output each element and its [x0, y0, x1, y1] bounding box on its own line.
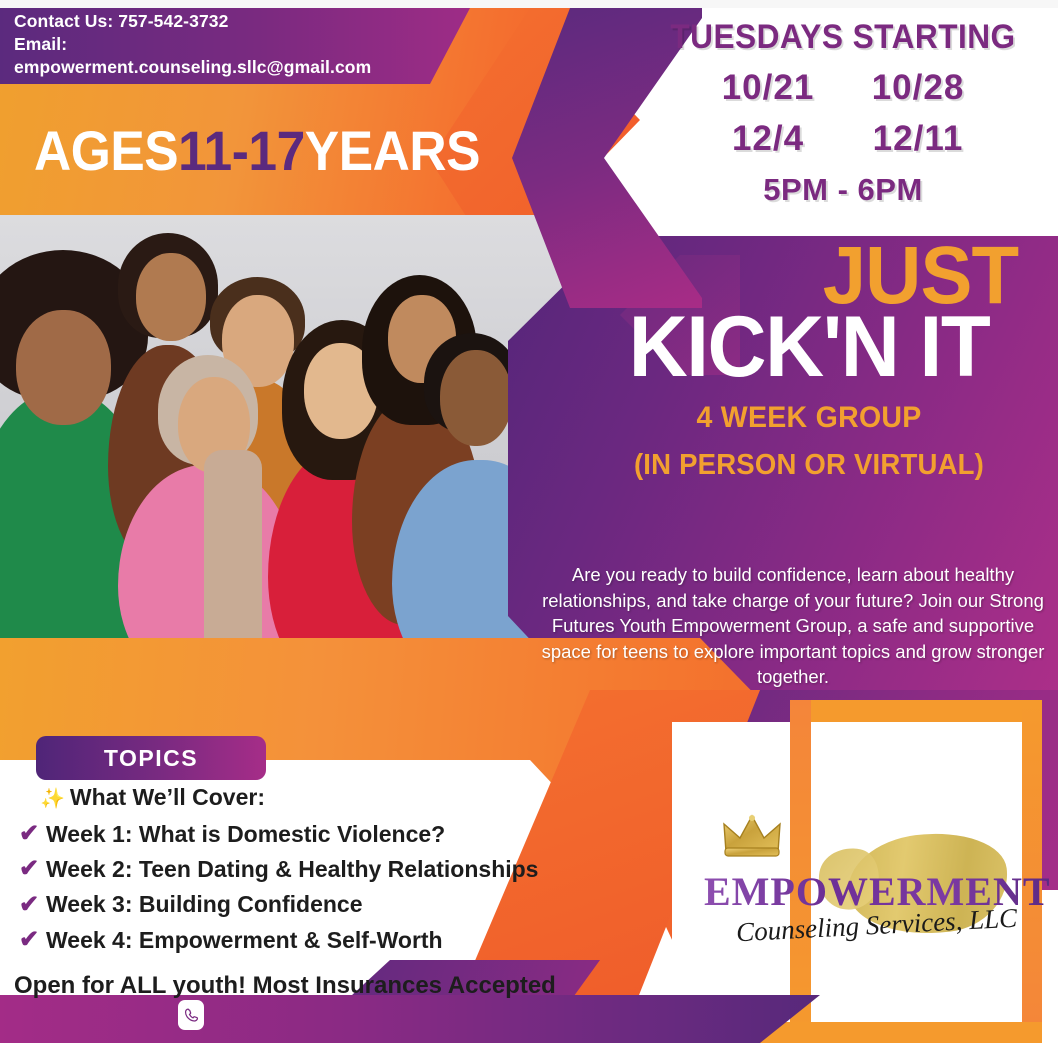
list-item: ✔ Week 2: Teen Dating & Healthy Relation…: [18, 852, 588, 886]
schedule-date-4: 12/11: [843, 119, 993, 159]
contact-email: empowerment.counseling.sllc@gmail.com: [14, 56, 444, 79]
schedule-dates-row-1: 10/2110/28: [628, 68, 1058, 108]
phone-icon: [184, 1007, 199, 1023]
photo-scarf-4: [204, 450, 262, 665]
photo-head-1: [16, 310, 111, 425]
check-icon: ✔: [18, 888, 40, 922]
topic-label: Week 3: Building Confidence: [46, 888, 363, 921]
list-item: ✔ Week 3: Building Confidence: [18, 888, 588, 922]
schedule-dates-row-2: 12/412/11: [628, 119, 1058, 159]
contact-phone: Contact Us: 757-542-3732: [14, 10, 444, 33]
schedule-date-2: 10/28: [843, 68, 993, 108]
hero-body-copy: Are you ready to build confidence, learn…: [528, 562, 1058, 690]
topics-footer-note: Open for ALL youth! Most Insurances Acce…: [14, 972, 556, 1000]
schedule-block: TUESDAYS STARTING 10/2110/28 12/412/11 5…: [628, 18, 1058, 208]
hero-subtitle-duration: 4 WEEK GROUP: [572, 401, 1045, 435]
topics-badge: TOPICS: [36, 736, 266, 780]
schedule-date-3: 12/4: [693, 119, 843, 159]
topics-list: ✨What We’ll Cover: ✔ Week 1: What is Dom…: [18, 784, 588, 958]
hero-title-block: JUST KICK'N IT 4 WEEK GROUP (IN PERSON O…: [560, 238, 1058, 482]
photo-head-2: [136, 253, 206, 341]
contact-email-label: Email:: [14, 33, 444, 56]
orange-frame-top: [790, 700, 1042, 722]
company-logo: EMPOWERMENT Counseling Services, LLC: [700, 836, 1030, 956]
sparkle-icon: ✨: [40, 788, 65, 810]
flyer-canvas: Contact Us: 757-542-3732 Email: empowerm…: [0, 0, 1058, 1043]
crown-icon: [720, 812, 804, 860]
photo-head-7: [440, 350, 512, 446]
top-white-strip: [0, 0, 1058, 8]
hero-title-line2: KICK'N IT: [572, 307, 1045, 389]
check-icon: ✔: [18, 817, 40, 851]
ages-range: 11-17: [178, 119, 305, 182]
contact-details: Contact Us: 757-542-3732 Email: empowerm…: [14, 10, 444, 78]
topics-badge-label: TOPICS: [104, 745, 198, 772]
hero-subtitle-format: (IN PERSON OR VIRTUAL): [572, 449, 1045, 482]
schedule-heading: TUESDAYS STARTING: [643, 18, 1043, 57]
topic-label: Week 4: Empowerment & Self-Worth: [46, 924, 443, 957]
schedule-time: 5PM - 6PM: [628, 172, 1058, 208]
ages-suffix: YEARS: [305, 119, 480, 182]
ages-prefix: AGES: [34, 119, 178, 182]
topic-label: Week 1: What is Domestic Violence?: [46, 818, 445, 851]
topics-cover-line: ✨What We’ll Cover:: [18, 784, 588, 811]
check-icon: ✔: [18, 923, 40, 957]
topics-cover-label: What We’ll Cover:: [70, 784, 265, 810]
list-item: ✔ Week 4: Empowerment & Self-Worth: [18, 923, 588, 957]
phone-badge: [178, 1000, 204, 1030]
ages-headline: AGES11-17YEARS: [34, 118, 480, 183]
topic-label: Week 2: Teen Dating & Healthy Relationsh…: [46, 853, 538, 886]
list-item: ✔ Week 1: What is Domestic Violence?: [18, 817, 588, 851]
bottom-gradient-bar: [0, 995, 880, 1043]
check-icon: ✔: [18, 852, 40, 886]
schedule-date-1: 10/21: [693, 68, 843, 108]
